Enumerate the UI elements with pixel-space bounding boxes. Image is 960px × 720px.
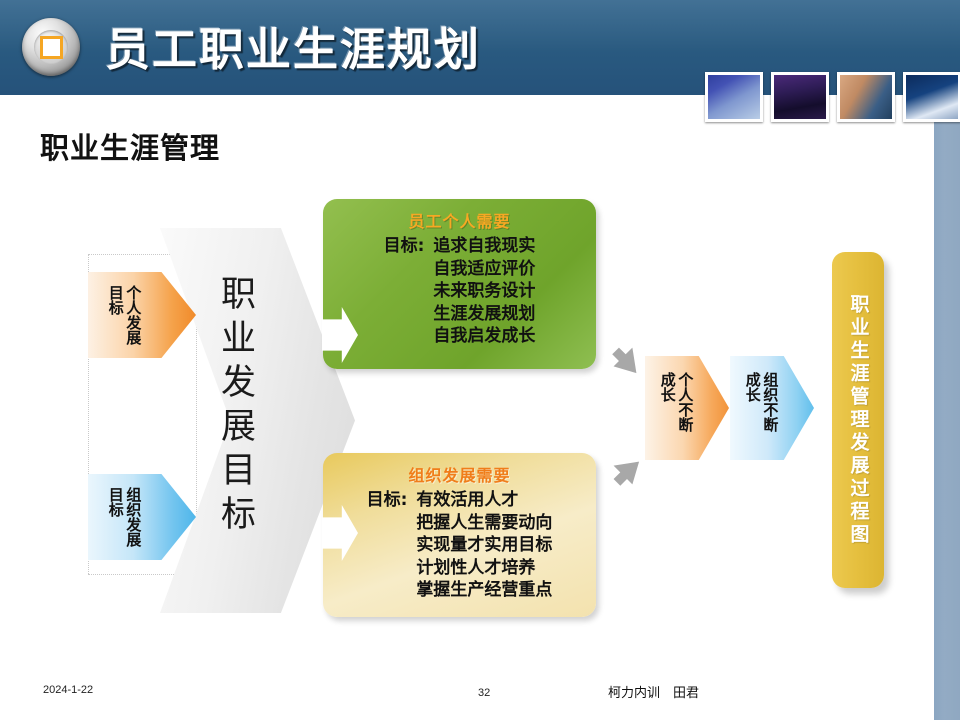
organization-development-needs-content: 目标: 有效活用人才 把握人生需要动向 实现量才实用目标 计划性人才培养 掌握生… bbox=[323, 489, 596, 602]
list-item: 计划性人才培养 bbox=[416, 557, 552, 580]
green-goal-list: 追求自我现实 自我适应评价 未来职务设计 生涯发展规划 自我启发成长 bbox=[433, 235, 535, 348]
header-thumbnail-strip bbox=[705, 72, 960, 122]
right-edge-white-gap bbox=[922, 95, 934, 720]
employee-personal-needs-box: 员工个人需要 目标: 追求自我现实 自我适应评价 未来职务设计 生涯发展规划 自… bbox=[323, 199, 596, 369]
green-goal-label: 目标: bbox=[384, 235, 434, 258]
organization-development-needs-box: 组织发展需要 目标: 有效活用人才 把握人生需要动向 实现量才实用目标 计划性人… bbox=[323, 453, 596, 617]
employee-personal-needs-content: 目标: 追求自我现实 自我适应评价 未来职务设计 生涯发展规划 自我启发成长 bbox=[323, 235, 596, 348]
employee-personal-needs-title: 员工个人需要 bbox=[323, 208, 596, 232]
right-edge-band bbox=[934, 60, 960, 720]
page-title: 员工职业生涯规划 bbox=[105, 13, 481, 78]
yellow-goal-label: 目标: bbox=[367, 489, 417, 512]
person-on-phone-photo bbox=[837, 72, 895, 122]
city-skyline-night-photo bbox=[771, 72, 829, 122]
personal-development-goal-arrow bbox=[88, 272, 196, 358]
glass-building-photo bbox=[705, 72, 763, 122]
organization-development-needs-title: 组织发展需要 bbox=[323, 462, 596, 486]
list-item: 生涯发展规划 bbox=[433, 303, 535, 326]
circle-square-logo-icon bbox=[22, 18, 80, 76]
footer-date: 2024-1-22 bbox=[43, 684, 93, 696]
yellow-goal-list: 有效活用人才 把握人生需要动向 实现量才实用目标 计划性人才培养 掌握生产经营重… bbox=[416, 489, 552, 602]
organization-development-goal-label: 组织发展目标 bbox=[106, 487, 141, 549]
list-item: 自我启发成长 bbox=[433, 325, 535, 348]
list-item: 实现量才实用目标 bbox=[416, 534, 552, 557]
list-item: 自我适应评价 bbox=[433, 258, 535, 281]
footer-page-number: 32 bbox=[478, 687, 490, 699]
career-management-process-box: 职业生涯管理发展过程图 bbox=[832, 252, 884, 588]
list-item: 追求自我现实 bbox=[433, 235, 535, 258]
logo-inner-ring bbox=[34, 30, 68, 64]
footer-author: 柯力内训 田君 bbox=[608, 682, 699, 701]
career-development-goal-label: 职业发展目标 bbox=[205, 275, 253, 539]
building-sky-photo bbox=[903, 72, 960, 122]
slide-subtitle: 职业生涯管理 bbox=[40, 125, 220, 167]
list-item: 有效活用人才 bbox=[416, 489, 552, 512]
personal-development-goal-label: 个人发展目标 bbox=[106, 285, 141, 347]
career-management-process-label: 职业生涯管理发展过程图 bbox=[849, 294, 868, 547]
list-item: 未来职务设计 bbox=[433, 280, 535, 303]
slide-canvas: 员工职业生涯规划 职业生涯管理 职业发展目标 个人发展目标 组织发展目标 员工个… bbox=[0, 0, 960, 720]
list-item: 把握人生需要动向 bbox=[416, 512, 552, 535]
organization-continuous-growth-label: 组织不断成长 bbox=[743, 372, 778, 442]
organization-development-goal-arrow bbox=[88, 474, 196, 560]
logo-square-glyph bbox=[40, 36, 63, 59]
personal-continuous-growth-label: 个人不断成长 bbox=[658, 372, 693, 442]
list-item: 掌握生产经营重点 bbox=[416, 579, 552, 602]
